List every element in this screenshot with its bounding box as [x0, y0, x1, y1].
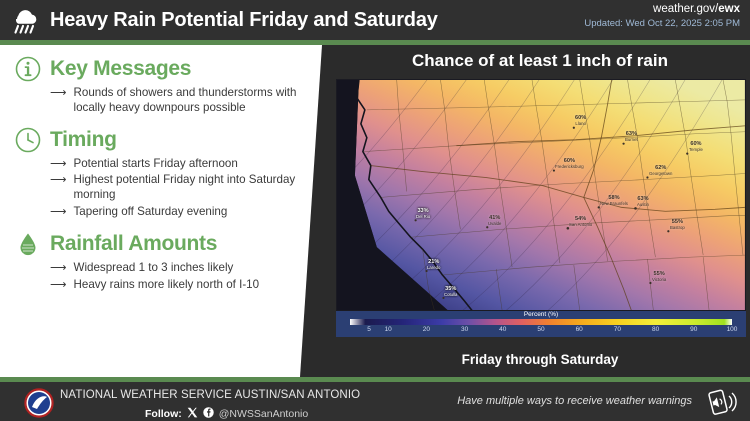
map-label: 60%Llano	[575, 116, 586, 126]
section-title: Rainfall Amounts	[50, 232, 217, 256]
clock-icon	[14, 126, 42, 154]
section-key-messages: Key Messages ⟶Rounds of showers and thun…	[14, 55, 326, 116]
arrow-icon: ⟶	[50, 278, 67, 293]
bullet-text: Highest potential Friday night into Satu…	[74, 173, 327, 203]
map-label-city: San Antonio	[569, 223, 592, 227]
map-label-city: Fredericksburg	[555, 165, 584, 169]
section-bullets: ⟶Rounds of showers and thunderstorms wit…	[50, 86, 326, 116]
section-bullets: ⟶Widespread 1 to 3 inches likely ⟶Heavy …	[50, 261, 326, 293]
bullet-item: ⟶Potential starts Friday afternoon	[50, 157, 326, 172]
map-caption: Friday through Saturday	[330, 352, 750, 367]
section-title: Key Messages	[50, 57, 191, 81]
section-title: Timing	[50, 128, 117, 152]
map-colorbar: Percent (%) 5 10 20 30 40 50 60 70 80 90…	[336, 311, 746, 337]
colorbar-tick: 90	[690, 326, 697, 333]
section-bullets: ⟶Potential starts Friday afternoon ⟶High…	[50, 157, 326, 220]
colorbar-tick: 30	[461, 326, 468, 333]
header-right: weather.gov/ewx Updated: Wed Oct 22, 202…	[584, 3, 740, 29]
arrow-icon: ⟶	[50, 205, 67, 220]
arrow-icon: ⟶	[50, 86, 67, 116]
arrow-icon: ⟶	[50, 261, 67, 276]
bullet-item: ⟶Heavy rains more likely north of I-10	[50, 278, 326, 293]
map-label: 55%Bastrop	[670, 220, 685, 230]
map-label: 63%Burnet	[625, 132, 638, 142]
rain-cloud-icon	[0, 0, 50, 40]
section-timing: Timing ⟶Potential starts Friday afternoo…	[14, 126, 326, 220]
office-name: NATIONAL WEATHER SERVICE AUSTIN/SAN ANTO…	[60, 389, 360, 401]
bullet-text: Tapering off Saturday evening	[74, 205, 327, 220]
facebook-icon[interactable]	[203, 405, 214, 421]
map-label: 35%Cotulla	[444, 287, 457, 297]
map-label-city: Bastrop	[670, 226, 685, 230]
bullet-text: Heavy rains more likely north of I-10	[74, 278, 327, 293]
colorbar-gradient	[350, 319, 732, 325]
map-label: 54%San Antonio	[569, 217, 592, 227]
map-label-city: New Braunfels	[600, 202, 628, 206]
map-label: 55%Victoria	[652, 272, 666, 282]
map-label: 58%New Braunfels	[600, 196, 628, 206]
map-label-city: Uvalde	[488, 222, 501, 226]
map-label-city: Austin	[637, 203, 649, 207]
info-circle-icon	[14, 55, 42, 83]
colorbar-tick: 80	[652, 326, 659, 333]
bullet-item: ⟶Widespread 1 to 3 inches likely	[50, 261, 326, 276]
colorbar-tick: 40	[499, 326, 506, 333]
map-graphic	[337, 80, 745, 311]
site-office: ewx	[718, 3, 740, 15]
bullet-item: ⟶Rounds of showers and thunderstorms wit…	[50, 86, 326, 116]
follow-row: Follow: @NWSSanAntonio	[145, 405, 308, 421]
colorbar-tick: 20	[423, 326, 430, 333]
colorbar-tick: 10	[385, 326, 392, 333]
map-label-city: Burnet	[625, 138, 638, 142]
colorbar-title: Percent (%)	[336, 311, 746, 319]
x-twitter-icon[interactable]	[187, 405, 198, 421]
follow-label: Follow:	[145, 408, 182, 420]
bullet-text: Potential starts Friday afternoon	[74, 157, 327, 172]
weather-gov-link[interactable]: weather.gov/ewx	[584, 3, 740, 15]
map-label: 60%Fredericksburg	[555, 159, 584, 169]
section-rainfall-amounts: Rainfall Amounts ⟶Widespread 1 to 3 inch…	[14, 230, 326, 293]
colorbar-tick: 5	[367, 326, 371, 333]
map-title: Chance of at least 1 inch of rain	[330, 48, 750, 74]
updated-timestamp: Updated: Wed Oct 22, 2025 2:05 PM	[584, 18, 740, 29]
footer-bar: NATIONAL WEATHER SERVICE AUSTIN/SAN ANTO…	[0, 382, 750, 421]
map-label-city: Georgetown	[649, 172, 672, 176]
bullet-text: Widespread 1 to 3 inches likely	[74, 261, 327, 276]
map-label-city: Temple	[689, 148, 703, 152]
map-label-city: Cotulla	[444, 293, 457, 297]
messages-panel: Key Messages ⟶Rounds of showers and thun…	[0, 45, 340, 377]
social-handle[interactable]: @NWSSanAntonio	[219, 408, 308, 420]
header-bar: Heavy Rain Potential Friday and Saturday…	[0, 0, 750, 40]
arrow-icon: ⟶	[50, 157, 67, 172]
rain-probability-map[interactable]: 21%Laredo 33%Del Rio 41%Uvalde 54%San An…	[336, 79, 746, 311]
colorbar-ticks: 5 10 20 30 40 50 60 70 80 90 100	[350, 326, 732, 336]
map-label: 21%Laredo	[427, 260, 440, 270]
site-prefix: weather.gov/	[653, 3, 718, 15]
map-label: 33%Del Rio	[416, 209, 430, 219]
map-label: 63%Austin	[637, 197, 649, 207]
map-label-city: Laredo	[427, 266, 440, 270]
raindrop-icon	[14, 230, 42, 258]
map-label-city: Victoria	[652, 278, 666, 282]
bullet-item: ⟶Tapering off Saturday evening	[50, 205, 326, 220]
phone-alert-icon	[704, 388, 738, 416]
footer-tagline: Have multiple ways to receive weather wa…	[457, 395, 692, 407]
map-label: 60%Temple	[689, 142, 703, 152]
bullet-item: ⟶Highest potential Friday night into Sat…	[50, 173, 326, 203]
colorbar-tick: 50	[537, 326, 544, 333]
page-title: Heavy Rain Potential Friday and Saturday	[50, 9, 438, 32]
colorbar-tick: 70	[614, 326, 621, 333]
map-label-city: Del Rio	[416, 215, 430, 219]
weather-graphic: Heavy Rain Potential Friday and Saturday…	[0, 0, 750, 421]
colorbar-tick: 100	[727, 326, 738, 333]
map-label-city: Llano	[575, 122, 586, 126]
arrow-icon: ⟶	[50, 173, 67, 203]
colorbar-tick: 60	[576, 326, 583, 333]
map-label: 41%Uvalde	[488, 216, 501, 226]
bullet-text: Rounds of showers and thunderstorms with…	[74, 86, 327, 116]
map-label: 62%Georgetown	[649, 166, 672, 176]
nws-seal-icon	[24, 388, 54, 418]
